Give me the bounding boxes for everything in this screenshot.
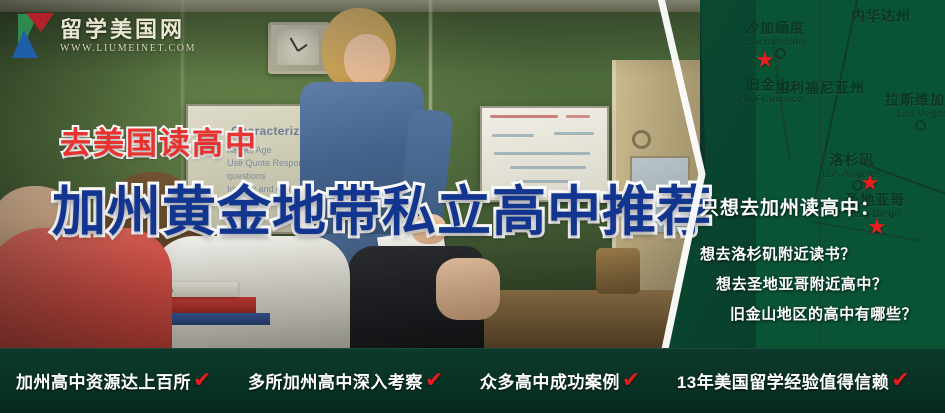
student-arm — [436, 258, 500, 320]
map-label: 拉斯维加斯Las Vegas — [885, 90, 945, 120]
feature-item: 众多高中成功案例 ✔ — [480, 368, 641, 393]
map-label-cn: 洛杉矶 — [822, 150, 882, 170]
feature-label: 13年美国留学经验值得信赖 — [677, 368, 889, 393]
feature-label: 众多高中成功案例 — [480, 368, 620, 393]
feature-label: 加州高中资源达上百所 — [16, 368, 191, 393]
map-city-dot — [915, 120, 926, 131]
panel-question-1[interactable]: 想去洛杉矶附近读书？ — [700, 243, 856, 264]
panel-question-3[interactable]: 旧金山地区的高中有哪些？ — [730, 303, 917, 324]
promo-banner: Characterization Name, Age Use Quote Res… — [0, 0, 945, 413]
map-label-en: Las Vegas — [885, 109, 945, 120]
map-label: 内华达州 — [851, 6, 911, 26]
check-icon: ✔ — [891, 369, 910, 391]
logo-name-en: WWW.LIUMEINET.COM — [60, 43, 196, 54]
whiteboard-mark — [554, 132, 594, 135]
check-icon: ✔ — [622, 369, 641, 391]
kicker-text: 去美国读高中 — [60, 118, 258, 163]
map-label-cn: 内华达州 — [851, 6, 911, 26]
site-logo[interactable]: 留学美国网 WWW.LIUMEINET.COM — [10, 8, 180, 64]
check-icon: ✔ — [193, 369, 212, 391]
whiteboard-mark — [490, 115, 558, 118]
whiteboard-mark — [492, 134, 534, 137]
door-knob — [632, 130, 651, 149]
map-label: 加利福尼亚州 — [775, 78, 865, 98]
map-label: 沙加緬度Sacramento — [745, 18, 805, 48]
feature-label: 多所加州高中深入考察 — [248, 368, 423, 393]
wall-clock-icon — [268, 22, 330, 74]
classroom-chair — [596, 248, 640, 294]
map-label-cn: 加利福尼亚州 — [775, 78, 865, 98]
map-city-dot — [775, 48, 786, 59]
panel-heading: 只想去加州读高中： — [700, 193, 880, 220]
map-label-cn: 拉斯维加斯 — [885, 90, 945, 110]
check-icon: ✔ — [425, 369, 444, 391]
map-star-marker: ★ — [755, 49, 775, 71]
map-label-cn: 沙加緬度 — [745, 18, 805, 38]
feature-strip: 加州高中资源达上百所 ✔ 多所加州高中深入考察 ✔ 众多高中成功案例 ✔ 13年… — [0, 348, 945, 413]
map-border-mexico — [811, 220, 920, 241]
teacher-face — [344, 34, 390, 86]
whiteboard-mark — [566, 115, 590, 118]
clock-face — [277, 29, 319, 65]
feature-item: 13年美国留学经验值得信赖 ✔ — [677, 368, 910, 393]
logo-name-cn: 留学美国网 — [60, 18, 196, 41]
logo-text: 留学美国网 WWW.LIUMEINET.COM — [60, 18, 196, 53]
whiteboard-mark — [494, 152, 590, 155]
feature-item: 加州高中资源达上百所 ✔ — [16, 368, 212, 393]
feature-item: 多所加州高中深入考察 ✔ — [248, 368, 444, 393]
clock-minute-hand — [290, 38, 299, 52]
page-title: 加州黄金地带私立高中推荐 — [52, 167, 712, 246]
map-label-en: Sacramento — [745, 37, 805, 48]
panel-question-2[interactable]: 想去圣地亚哥附近高中？ — [716, 273, 888, 294]
foreground-student-red-shirt — [0, 228, 172, 348]
student-desk — [472, 290, 698, 348]
logo-triangle-blue — [12, 30, 38, 58]
clock-hour-hand — [297, 44, 307, 52]
arrow-logo-mark-icon — [10, 12, 56, 60]
